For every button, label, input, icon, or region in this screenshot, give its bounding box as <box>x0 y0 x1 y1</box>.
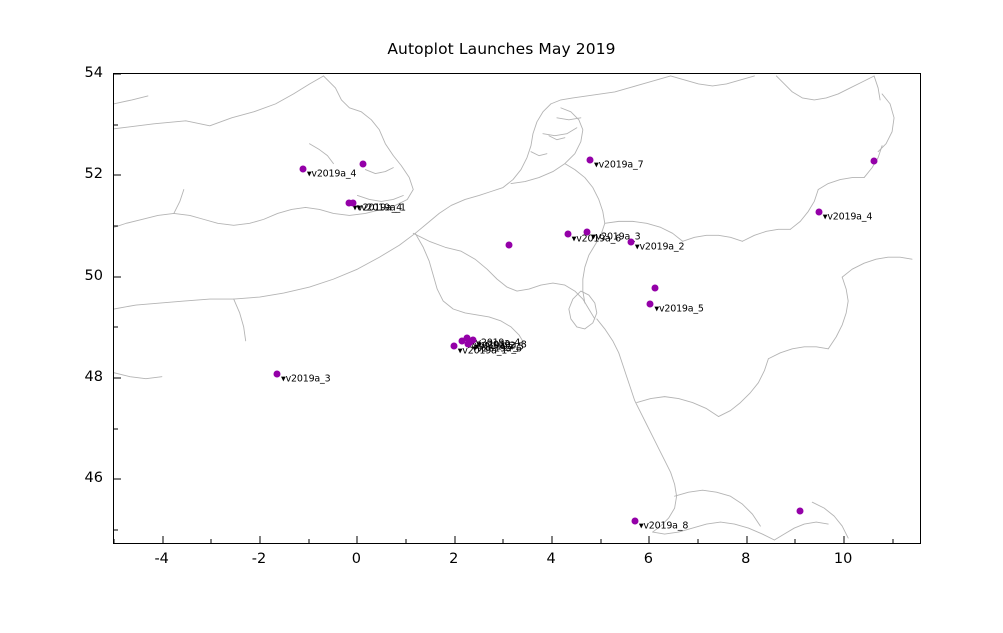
data-point-label: ▾v2019a_4 <box>307 169 356 180</box>
y-axis-tick <box>114 479 121 480</box>
x-tick-label: -4 <box>154 551 168 567</box>
y-tick-label: 46 <box>0 470 103 486</box>
data-point <box>797 507 804 514</box>
data-point <box>506 241 513 248</box>
data-point <box>470 337 477 344</box>
y-axis-tick <box>114 124 118 125</box>
x-axis-tick <box>698 539 699 543</box>
data-point <box>652 284 659 291</box>
x-axis-tick <box>357 536 358 543</box>
figure-canvas: Autoplot Launches May 2019 <box>0 0 1003 633</box>
x-axis-tick <box>746 536 747 543</box>
data-point <box>647 301 654 308</box>
data-point-label: ▾v2019a_1 <box>357 203 406 214</box>
data-point <box>584 229 591 236</box>
data-point <box>274 371 281 378</box>
x-axis-tick <box>600 539 601 543</box>
x-axis-tick <box>503 539 504 543</box>
x-axis-tick <box>795 539 796 543</box>
x-axis-tick <box>308 539 309 543</box>
x-tick-label: 6 <box>644 551 653 567</box>
x-tick-label: 10 <box>834 551 852 567</box>
data-point <box>349 200 356 207</box>
data-point-label: ▾v2019a_8 <box>477 340 526 351</box>
x-tick-label: 0 <box>352 551 361 567</box>
x-axis-tick <box>649 536 650 543</box>
data-point <box>871 158 878 165</box>
x-axis-tick <box>406 539 407 543</box>
data-point-label: ▾v2019a_8 <box>639 520 688 531</box>
x-axis-tick <box>454 536 455 543</box>
data-point-label: ▾v2019a_3 <box>281 374 330 385</box>
x-axis-tick <box>211 539 212 543</box>
x-tick-label: 4 <box>546 551 555 567</box>
y-axis-tick <box>114 529 118 530</box>
y-axis-tick <box>114 377 121 378</box>
x-axis-tick <box>844 536 845 543</box>
y-axis-tick <box>114 327 118 328</box>
data-point <box>299 166 306 173</box>
data-point <box>627 239 634 246</box>
y-tick-label: 54 <box>0 65 103 81</box>
x-tick-label: -2 <box>252 551 266 567</box>
x-axis-tick <box>162 536 163 543</box>
data-point <box>360 161 367 168</box>
data-point-label: ▾v2019a_4 <box>823 211 872 222</box>
data-point <box>631 517 638 524</box>
page-title: Autoplot Launches May 2019 <box>0 40 1003 58</box>
x-tick-label: 2 <box>449 551 458 567</box>
x-axis-tick <box>260 536 261 543</box>
data-point <box>815 208 822 215</box>
y-tick-label: 50 <box>0 268 103 284</box>
x-tick-label: 8 <box>741 551 750 567</box>
data-point <box>564 230 571 237</box>
x-axis-tick <box>892 539 893 543</box>
data-point-label: ▾v2019a_7 <box>594 160 643 171</box>
y-axis-tick <box>114 175 121 176</box>
data-point <box>587 157 594 164</box>
coastline-map <box>114 74 920 543</box>
data-point-label: ▾v2019a_5 <box>654 304 703 315</box>
y-axis-tick <box>114 428 118 429</box>
x-axis-tick <box>114 539 115 543</box>
y-axis-tick <box>114 225 118 226</box>
y-axis-tick <box>114 276 121 277</box>
y-axis-tick <box>114 74 121 75</box>
data-point-label: ▾v2019a_2 <box>635 242 684 253</box>
y-tick-label: 48 <box>0 369 103 385</box>
data-point <box>450 343 457 350</box>
map-axes: ▾v2019a_4▾v2019a_4▾v2019a_1▾v2019a_3▾v20… <box>113 73 921 544</box>
y-tick-label: 52 <box>0 166 103 182</box>
x-axis-tick <box>552 536 553 543</box>
